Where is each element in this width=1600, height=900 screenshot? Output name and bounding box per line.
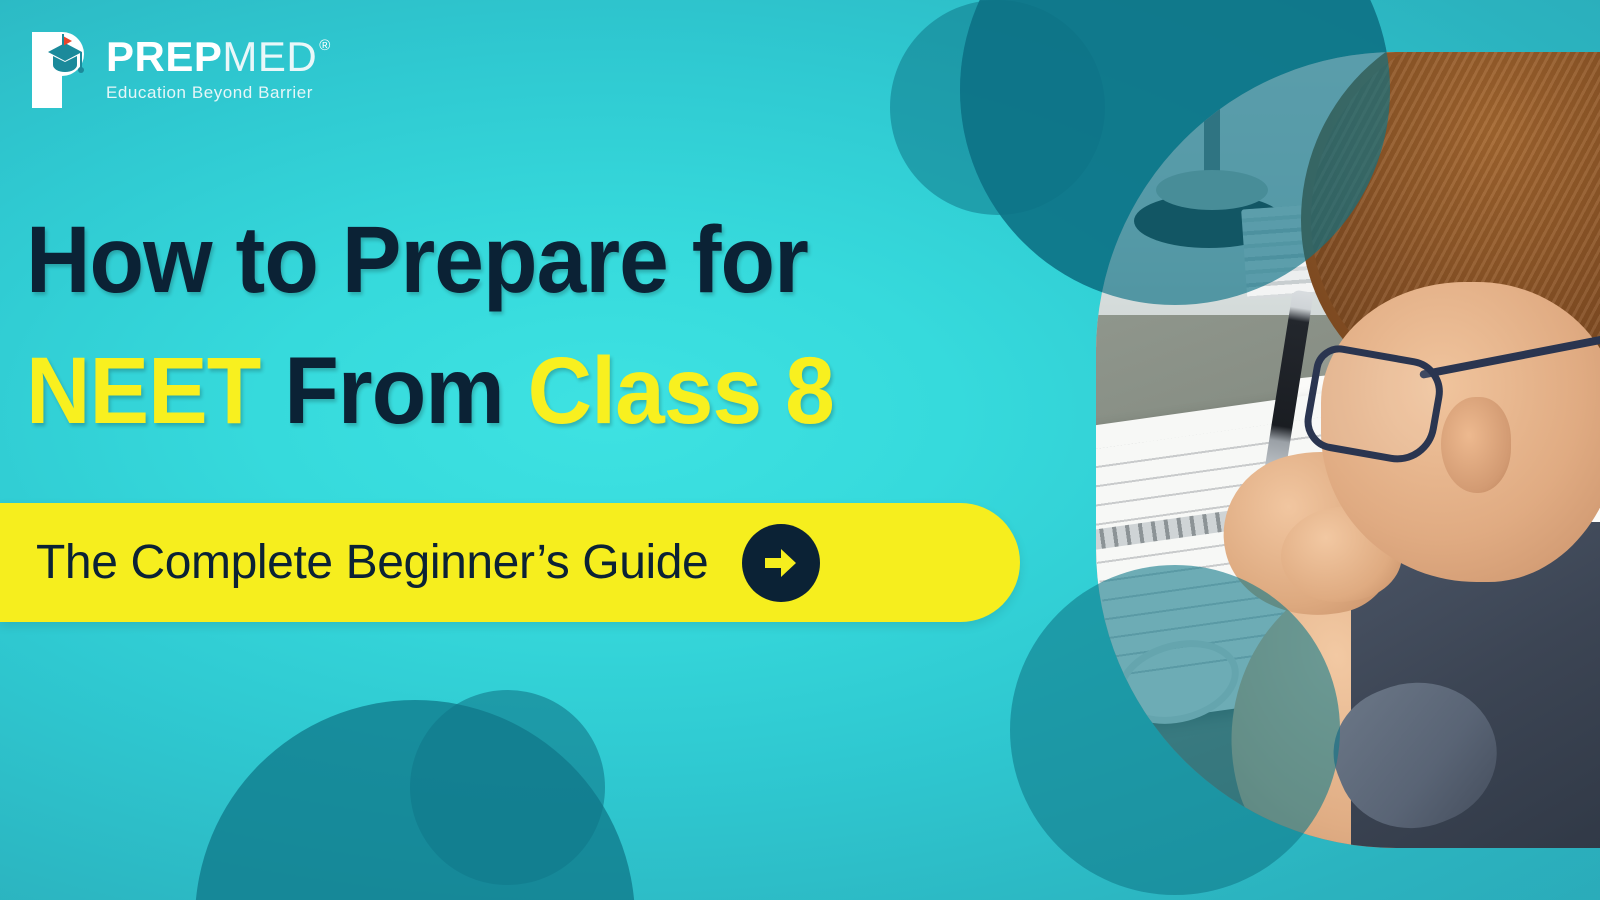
headline-from: From <box>284 338 503 444</box>
promo-banner: PREP MED ® Education Beyond Barrier How … <box>0 0 1600 900</box>
decorative-circle-bottom-left-small <box>410 690 605 885</box>
brand-name-bold: PREP <box>106 36 222 78</box>
headline-line-1: How to Prepare for <box>26 212 994 309</box>
brand-name-light: MED <box>222 36 317 78</box>
headline-class: Class 8 <box>528 338 834 444</box>
graduation-cap-p-icon <box>26 28 96 112</box>
student-photo <box>1096 52 1600 848</box>
brand-tagline: Education Beyond Barrier <box>106 83 330 103</box>
brand-wordmark-group: PREP MED ® Education Beyond Barrier <box>106 28 330 103</box>
photo-content <box>1096 52 1600 848</box>
headline-block: How to Prepare for NEET From Class 8 <box>26 212 1056 440</box>
subtitle-pill[interactable]: The Complete Beginner’s Guide <box>0 503 1020 622</box>
arrow-right-circle-icon[interactable] <box>742 524 820 602</box>
headline-line-2: NEET From Class 8 <box>26 343 994 440</box>
brand-wordmark: PREP MED ® <box>106 36 330 78</box>
registered-trademark-icon: ® <box>319 38 330 53</box>
photo-lamp-disc <box>1156 170 1268 210</box>
headline-neet: NEET <box>26 338 260 444</box>
photo-ear <box>1441 397 1511 493</box>
brand-logo[interactable]: PREP MED ® Education Beyond Barrier <box>26 28 330 112</box>
subtitle-text: The Complete Beginner’s Guide <box>36 535 708 590</box>
